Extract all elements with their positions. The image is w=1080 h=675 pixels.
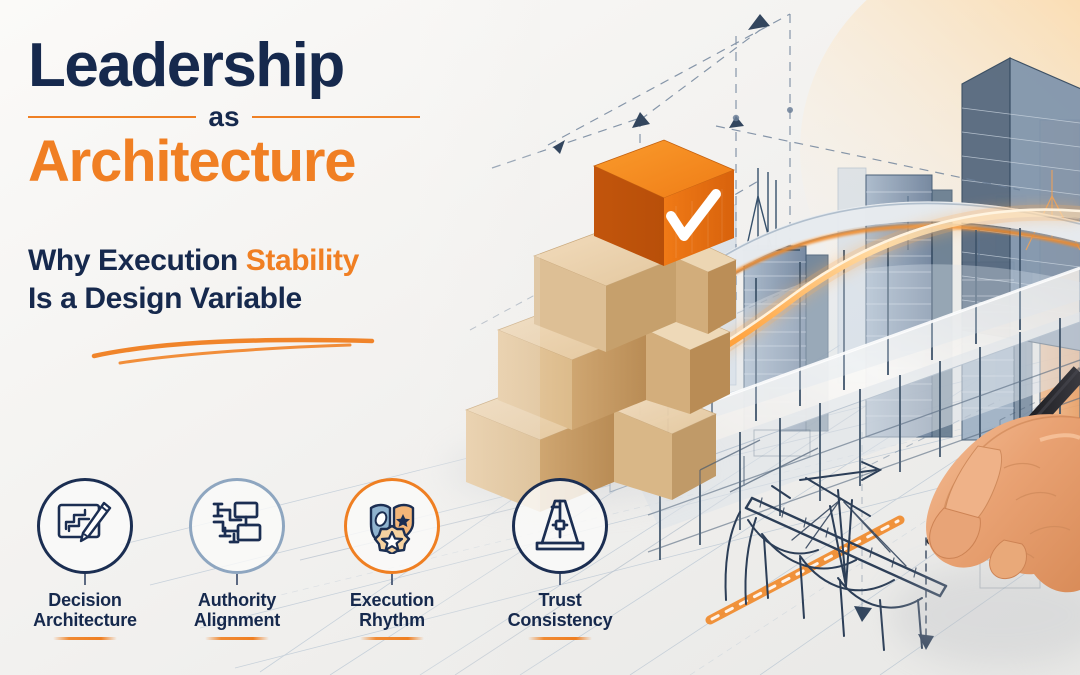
pillar-decision-architecture[interactable]: Decision Architecture xyxy=(10,478,160,640)
pillar-label-3: Execution Rhythm xyxy=(317,590,467,630)
pillar-underline-3 xyxy=(360,637,424,640)
badges-shields-icon xyxy=(363,498,421,554)
pillar-circle-3[interactable] xyxy=(344,478,440,574)
headline-line-1: Leadership xyxy=(28,36,458,97)
pillar-row: Decision Architecture xyxy=(0,478,660,653)
pillar-label-4-line2: Consistency xyxy=(485,610,635,630)
pillar-label-4: Trust Consistency xyxy=(485,590,635,630)
pillar-circle-4[interactable] xyxy=(512,478,608,574)
pillar-authority-alignment[interactable]: Authority Alignment xyxy=(162,478,312,640)
pillar-underline-1 xyxy=(53,637,117,640)
headline-connector: as xyxy=(206,103,241,131)
pillar-circle-2[interactable] xyxy=(189,478,285,574)
org-chart-icon xyxy=(208,498,266,554)
subtitle-line1-highlight: Stability xyxy=(246,244,359,277)
headline-block: Leadership as Architecture xyxy=(28,36,458,191)
rule-right xyxy=(252,116,420,118)
pillar-execution-rhythm[interactable]: Execution Rhythm xyxy=(317,478,467,640)
pillar-label-3-line2: Rhythm xyxy=(317,610,467,630)
pillar-trust-consistency[interactable]: Trust Consistency xyxy=(485,478,635,640)
rule-left xyxy=(28,116,196,118)
blueprint-pencil-icon xyxy=(55,497,115,555)
pillar-label-2-line2: Alignment xyxy=(162,610,312,630)
pillar-stem-1 xyxy=(84,574,86,585)
headline-line-2: Architecture xyxy=(28,133,458,191)
pillar-circle-1[interactable] xyxy=(37,478,133,574)
pillar-label-1-line2: Architecture xyxy=(10,610,160,630)
subtitle-line1-prefix: Why Execution xyxy=(28,244,246,277)
pillar-label-2: Authority Alignment xyxy=(162,590,312,630)
pillar-stem-3 xyxy=(391,574,393,585)
poster-canvas: Leadership as Architecture Why Execution… xyxy=(0,0,1080,675)
subtitle-line2: Is a Design Variable xyxy=(28,282,302,315)
pillar-label-1-line1: Decision xyxy=(10,590,160,610)
subtitle-underline-swoosh xyxy=(88,336,378,366)
pillar-stem-2 xyxy=(236,574,238,585)
subtitle-block: Why Execution Stability Is a Design Vari… xyxy=(28,242,468,319)
pillar-underline-2 xyxy=(205,637,269,640)
pillar-stem-4 xyxy=(559,574,561,585)
metronome-icon xyxy=(533,497,587,555)
pillar-label-3-line1: Execution xyxy=(317,590,467,610)
pillar-label-2-line1: Authority xyxy=(162,590,312,610)
block-upper-right xyxy=(676,246,736,334)
headline-connector-row: as xyxy=(28,103,420,131)
pillar-label-1: Decision Architecture xyxy=(10,590,160,630)
pillar-underline-4 xyxy=(528,637,592,640)
pillar-label-4-line1: Trust xyxy=(485,590,635,610)
